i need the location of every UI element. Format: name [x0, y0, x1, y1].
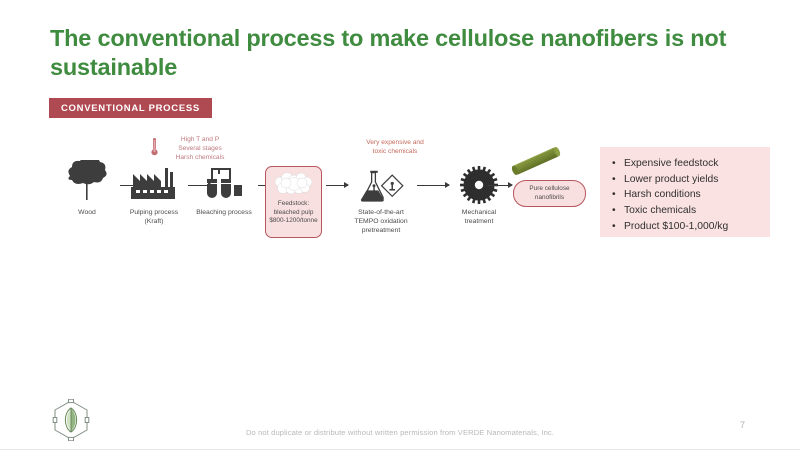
bullet-icon: •: [612, 156, 624, 172]
page-number: 7: [740, 420, 745, 430]
flow-step-wood-caption: Wood: [78, 209, 96, 218]
pulp-icon: [270, 170, 317, 198]
bullet-icon: •: [612, 187, 624, 203]
product-pill: Pure cellulose nanofibrils: [513, 180, 586, 207]
list-item: •Lower product yields: [612, 172, 762, 188]
product-pill-caption: Pure cellulose nanofibrils: [529, 185, 569, 202]
feedstock-caption-line2: bleached pulp: [274, 209, 314, 216]
tree-icon: [58, 162, 116, 204]
pulping-caption-line1: Pulping process: [130, 209, 178, 216]
mech-caption-line2: treatment: [465, 218, 494, 225]
flow-step-pulping: Pulping process(Kraft): [125, 162, 183, 227]
list-item: •Harsh conditions: [612, 187, 762, 203]
flow-step-mechanical-caption: Mechanicaltreatment: [462, 209, 496, 227]
list-item: •Toxic chemicals: [612, 203, 762, 219]
flow-step-bleaching: Bleaching process: [195, 162, 253, 218]
arrow-tempo-to-mechanical: [417, 185, 449, 186]
tempo-annotation-line-2: toxic chemicals: [340, 147, 450, 156]
mech-caption-line1: Mechanical: [462, 209, 496, 216]
product-caption-line1: Pure cellulose: [529, 185, 569, 192]
tempo-caption-line2: TEMPO oxidation: [354, 218, 407, 225]
page-title: The conventional process to make cellulo…: [50, 24, 750, 82]
tempo-caption-line3: pretreatment: [362, 227, 401, 234]
flow-step-wood: Wood: [58, 162, 116, 218]
drawback-text: Toxic chemicals: [624, 203, 696, 219]
tanks-icon: [195, 162, 253, 204]
tempo-caption-line1: State-of-the-art: [358, 209, 404, 216]
feedstock-caption-line3: $800-1200/tonne: [269, 217, 317, 224]
drawback-text: Lower product yields: [624, 172, 718, 188]
product-caption-line2: nanofibrils: [535, 194, 564, 201]
flask-hazard-icon: [352, 162, 410, 204]
flow-step-mechanical: Mechanicaltreatment: [450, 162, 508, 227]
feedstock-caption-line1: Feedstock:: [278, 200, 309, 207]
flow-step-feedstock-card: Feedstock: bleached pulp $800-1200/tonne: [265, 166, 322, 238]
flow-step-tempo-caption: State-of-the-artTEMPO oxidationpretreatm…: [354, 209, 407, 235]
drawback-text: Product $100-1,000/kg: [624, 219, 728, 235]
gear-icon: [450, 162, 508, 204]
list-item: •Expensive feedstock: [612, 156, 762, 172]
pulping-annotation-line-2: Several stages: [150, 144, 250, 153]
bullet-icon: •: [612, 172, 624, 188]
arrow-feedstock-to-tempo: [326, 185, 348, 186]
section-badge: CONVENTIONAL PROCESS: [49, 98, 212, 118]
list-item: •Product $100-1,000/kg: [612, 219, 762, 235]
arrow-mechanical-to-product: [488, 185, 512, 186]
thermometer-icon: [150, 137, 159, 157]
drawbacks-panel: •Expensive feedstock •Lower product yiel…: [600, 147, 770, 237]
bullet-icon: •: [612, 219, 624, 235]
pulping-annotation: High T and P Several stages Harsh chemic…: [150, 135, 250, 162]
flow-step-pulping-caption: Pulping process(Kraft): [130, 209, 178, 227]
section-badge-label: CONVENTIONAL PROCESS: [61, 103, 200, 114]
drawback-text: Expensive feedstock: [624, 156, 718, 172]
drawback-text: Harsh conditions: [624, 187, 701, 203]
slide-canvas: The conventional process to make cellulo…: [0, 0, 800, 450]
tempo-annotation-line-1: Very expensive and: [340, 138, 450, 147]
footer-note: Do not duplicate or distribute without w…: [0, 428, 800, 437]
flow-step-feedstock-caption: Feedstock: bleached pulp $800-1200/tonne: [269, 200, 317, 226]
flow-step-tempo: State-of-the-artTEMPO oxidationpretreatm…: [350, 162, 412, 235]
pulping-annotation-line-1: High T and P: [150, 135, 250, 144]
tempo-annotation: Very expensive and toxic chemicals: [340, 138, 450, 156]
drawbacks-list: •Expensive feedstock •Lower product yiel…: [612, 156, 762, 234]
flow-step-bleaching-caption: Bleaching process: [196, 209, 252, 218]
pulping-caption-line2: (Kraft): [145, 218, 164, 225]
factory-icon: [125, 162, 183, 204]
nanofibril-rod-icon: [505, 144, 567, 178]
bullet-icon: •: [612, 203, 624, 219]
